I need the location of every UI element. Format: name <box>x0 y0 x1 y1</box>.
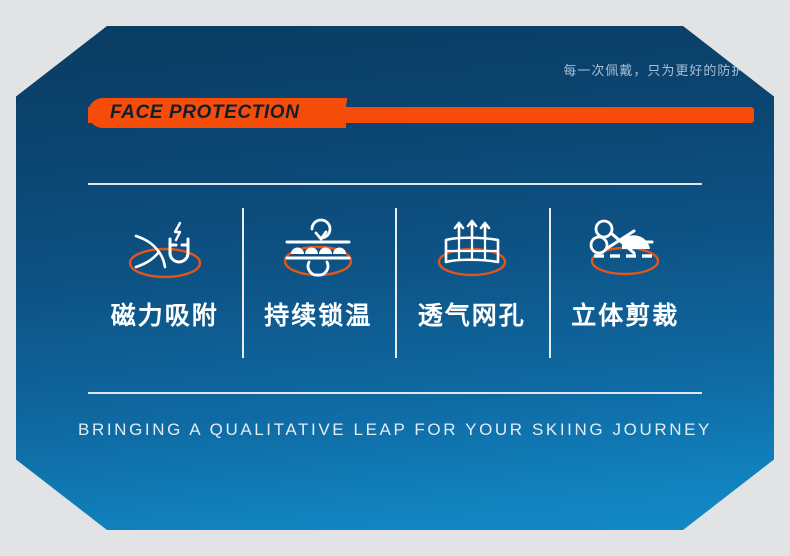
feature-label: 磁力吸附 <box>111 296 219 332</box>
divider-top <box>88 183 702 185</box>
banner-title: FACE PROTECTION <box>110 102 300 124</box>
banner-tab: FACE PROTECTION <box>88 98 346 128</box>
feature-list: 磁力吸附 持续 <box>88 206 702 371</box>
breathable-mesh-icon <box>429 206 515 292</box>
promo-card: FACE PROTECTION 每一次佩戴，只为更好的防护. 磁 <box>16 26 774 530</box>
scissors-cut-icon <box>582 206 668 292</box>
feature-label: 透气网孔 <box>418 296 526 332</box>
thermal-insulation-icon <box>275 206 361 292</box>
feature-item-breathable: 透气网孔 <box>395 206 549 371</box>
divider-bottom <box>88 392 702 394</box>
magnet-spark-icon <box>122 206 208 292</box>
header-subtitle: 每一次佩戴，只为更好的防护. <box>563 60 750 79</box>
feature-item-cut: 立体剪裁 <box>549 206 703 371</box>
footer-tagline: BRINGING A QUALITATIVE LEAP FOR YOUR SKI… <box>16 420 774 440</box>
header-banner: FACE PROTECTION <box>16 98 774 128</box>
feature-label: 持续锁温 <box>264 296 372 332</box>
feature-label: 立体剪裁 <box>571 296 679 332</box>
feature-item-magnetic: 磁力吸附 <box>88 206 242 371</box>
poster-stage: FACE PROTECTION 每一次佩戴，只为更好的防护. 磁 <box>0 0 790 556</box>
feature-item-insulation: 持续锁温 <box>242 206 396 371</box>
